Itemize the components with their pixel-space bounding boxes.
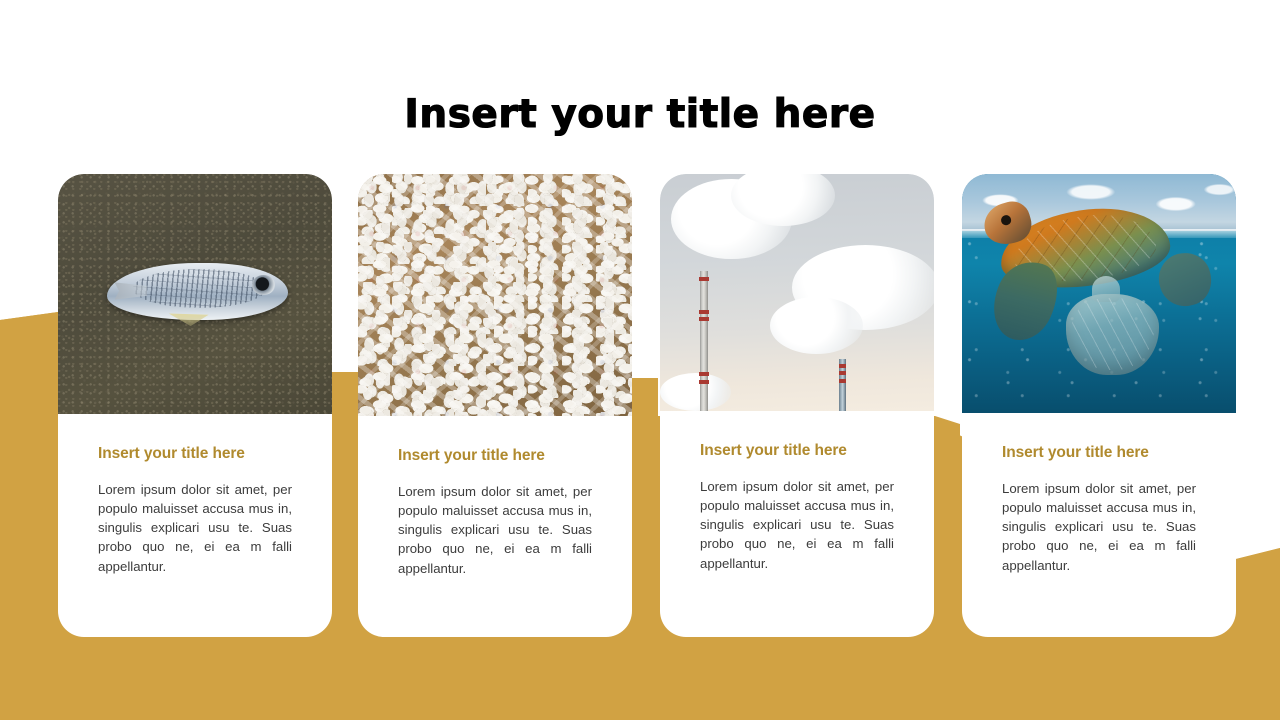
smoke-plume bbox=[770, 297, 863, 354]
content-card[interactable]: Insert your title here Lorem ipsum dolor… bbox=[660, 174, 934, 637]
card-image-plastic-cups bbox=[358, 174, 632, 416]
fish-fin bbox=[169, 313, 209, 326]
stack-band bbox=[699, 277, 709, 281]
card-description: Lorem ipsum dolor sit amet, per populo m… bbox=[374, 465, 616, 578]
card-body: Insert your title here Lorem ipsum dolor… bbox=[962, 413, 1236, 575]
smoke-plume bbox=[660, 373, 731, 411]
card-title: Insert your title here bbox=[74, 414, 316, 463]
stack-band bbox=[699, 310, 709, 314]
card-image-smokestacks bbox=[660, 174, 934, 411]
card-description: Lorem ipsum dolor sit amet, per populo m… bbox=[978, 462, 1220, 575]
stack-band bbox=[699, 372, 709, 376]
card-image-dead-fish bbox=[58, 174, 332, 414]
smokestack-tall bbox=[700, 271, 708, 411]
slide-title: Insert your title here bbox=[0, 94, 1280, 137]
slide-canvas: Insert your title here Insert your title… bbox=[0, 0, 1280, 720]
cups-texture-overlay bbox=[358, 174, 632, 416]
fish-eye bbox=[252, 275, 276, 295]
card-image-sea-turtle bbox=[962, 174, 1236, 413]
factory-smokestacks-pollution-photo bbox=[660, 174, 934, 411]
fish-body-shape bbox=[107, 263, 288, 321]
smokestack-short bbox=[839, 359, 846, 411]
card-title: Insert your title here bbox=[374, 416, 616, 465]
card-description: Lorem ipsum dolor sit amet, per populo m… bbox=[676, 460, 918, 573]
card-body: Insert your title here Lorem ipsum dolor… bbox=[660, 411, 934, 573]
content-card[interactable]: Insert your title here Lorem ipsum dolor… bbox=[962, 174, 1236, 637]
plastic-foam-cups-litter-photo bbox=[358, 174, 632, 416]
stack-band bbox=[839, 364, 846, 368]
card-description: Lorem ipsum dolor sit amet, per populo m… bbox=[74, 463, 316, 576]
stack-band bbox=[839, 379, 846, 383]
card-title: Insert your title here bbox=[676, 411, 918, 460]
stack-band bbox=[699, 380, 709, 384]
fish-stripes bbox=[133, 269, 267, 308]
stack-band bbox=[699, 317, 709, 321]
content-card[interactable]: Insert your title here Lorem ipsum dolor… bbox=[358, 174, 632, 637]
stack-band bbox=[839, 371, 846, 375]
sea-turtle-with-plastic-bag-photo bbox=[962, 174, 1236, 413]
dead-fish-on-sand-photo bbox=[58, 174, 332, 414]
card-title: Insert your title here bbox=[978, 413, 1220, 462]
card-body: Insert your title here Lorem ipsum dolor… bbox=[58, 414, 332, 576]
content-card[interactable]: Insert your title here Lorem ipsum dolor… bbox=[58, 174, 332, 637]
card-body: Insert your title here Lorem ipsum dolor… bbox=[358, 416, 632, 578]
